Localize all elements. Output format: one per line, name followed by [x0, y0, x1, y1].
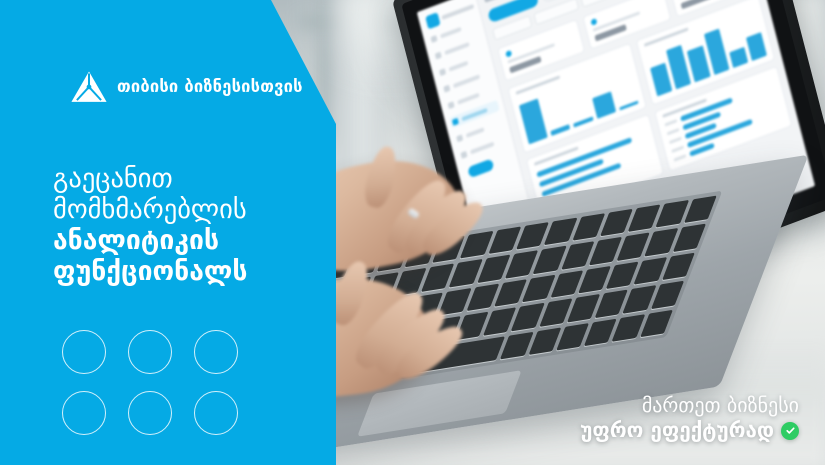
row-label — [664, 119, 677, 126]
check-glyph — [785, 425, 796, 436]
brand-wordmark: თიბისი ბიზნესისთვის — [117, 79, 303, 96]
headline-line-4: ფუნქციონალს — [53, 256, 343, 287]
tagline-line-1: მართეთ ბიზნესი — [580, 393, 799, 418]
bar — [619, 100, 639, 110]
headline-line-2: მომხმარებლის — [53, 194, 343, 225]
nav-icon — [447, 101, 454, 109]
row-label — [667, 128, 680, 135]
bar — [551, 124, 571, 136]
nav-icon — [435, 51, 442, 59]
bar — [729, 47, 748, 68]
nav-icon — [443, 84, 450, 92]
brand-panel: თიბისი ბიზნესისთვის გაეცანით მომხმარებლი… — [0, 0, 336, 465]
decorative-circle — [128, 330, 172, 374]
nav-icon — [430, 35, 437, 43]
decorative-circle — [128, 391, 172, 435]
app-logo-icon — [425, 12, 440, 29]
headline-line-3: ანალიტიკის — [53, 225, 343, 256]
nav-icon — [452, 117, 459, 125]
bar — [573, 117, 593, 128]
bar — [746, 32, 767, 61]
green-check-circle-icon — [781, 422, 799, 440]
bar — [592, 91, 616, 119]
row-label — [669, 137, 682, 144]
tbc-triangle-logo-icon — [70, 70, 108, 104]
decorative-circle — [194, 330, 238, 374]
tagline: მართეთ ბიზნესი უფრო ეფექტურად — [580, 393, 799, 443]
bar — [687, 45, 710, 82]
decorative-circle — [194, 391, 238, 435]
headline: გაეცანით მომხმარებლის ანალიტიკის ფუნქციო… — [53, 163, 343, 287]
tagline-line-2: უფრო ეფექტურად — [580, 418, 774, 443]
kpi-value — [680, 0, 712, 9]
decorative-circle-grid — [62, 330, 238, 435]
nav-icon — [439, 68, 446, 76]
app-logo-wordmark — [441, 4, 474, 20]
kpi-icon — [505, 50, 512, 58]
tagline-line-2-row: უფრო ეფექტურად — [580, 418, 799, 443]
decorative-circle — [62, 391, 106, 435]
row-label — [674, 154, 687, 161]
decorative-circle — [62, 330, 106, 374]
bar — [650, 63, 672, 96]
row-label — [671, 145, 684, 152]
kpi-icon — [591, 18, 598, 26]
brand-lockup: თიბისი ბიზნესისთვის — [70, 70, 303, 104]
headline-line-1: გაეცანით — [53, 163, 343, 194]
